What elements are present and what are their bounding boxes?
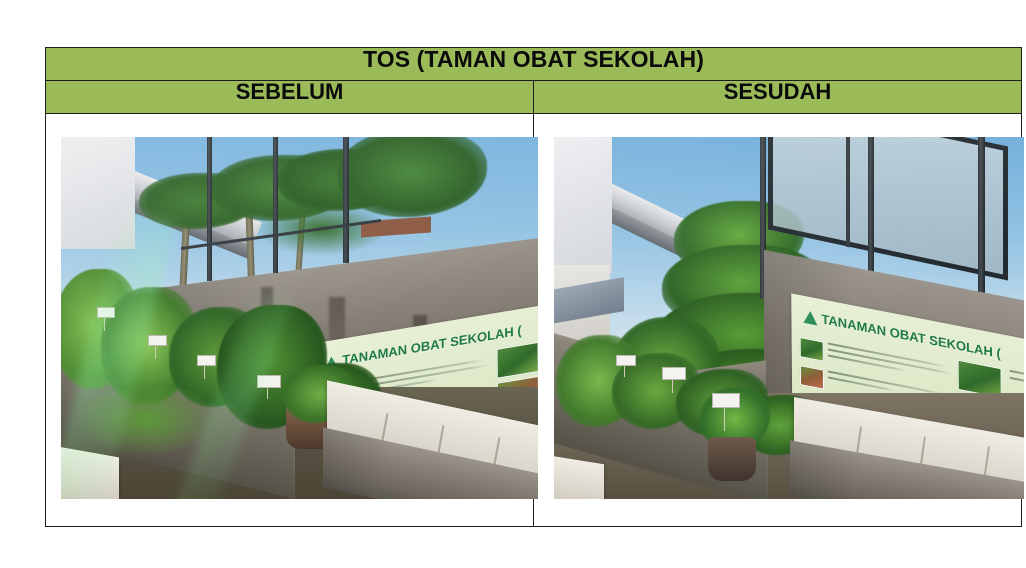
fence-post (868, 137, 874, 273)
fence-post (273, 137, 278, 273)
plant-label-stick (724, 405, 725, 431)
plant-label (97, 307, 115, 318)
photo-before: TANAMAN OBAT SEKOLAH ( (61, 137, 538, 499)
photo-after-canvas: TANAMAN OBAT SEKOLAH ( (554, 137, 1024, 499)
photo-cell-before: TANAMAN OBAT SEKOLAH ( (46, 114, 534, 527)
fence-post (978, 137, 985, 317)
roof-panel (61, 137, 135, 249)
plant-label (148, 335, 167, 346)
document-page: TOS (TAMAN OBAT SEKOLAH) SEBELUM SESUDAH (0, 0, 1026, 568)
banner-thumbnail (800, 365, 824, 390)
banner-thumbnail (497, 342, 538, 379)
table-row-subheaders: SEBELUM SESUDAH (46, 81, 1022, 114)
page-title: TOS (TAMAN OBAT SEKOLAH) (363, 46, 704, 72)
banner-manfaat-line (1010, 377, 1024, 387)
photo-before-canvas: TANAMAN OBAT SEKOLAH ( (61, 137, 538, 499)
banner-logo-icon (803, 310, 817, 326)
window-mullion (846, 137, 850, 247)
column-header-before-label: SEBELUM (236, 79, 344, 104)
banner-text-line (828, 370, 944, 394)
plant-label (712, 393, 740, 408)
plant-label (257, 375, 281, 388)
column-header-after-label: SESUDAH (724, 79, 832, 104)
tos-comparison-table: TOS (TAMAN OBAT SEKOLAH) SEBELUM SESUDAH (45, 47, 1022, 527)
table-row-photos: TANAMAN OBAT SEKOLAH ( (46, 114, 1022, 527)
plant-label (662, 367, 686, 380)
fence-post (343, 137, 349, 263)
banner-text-line (828, 348, 954, 374)
plant-label (197, 355, 216, 366)
photo-after: TANAMAN OBAT SEKOLAH ( (554, 137, 1024, 499)
table-title-cell: TOS (TAMAN OBAT SEKOLAH) (46, 48, 1022, 81)
column-header-after: SESUDAH (534, 81, 1022, 114)
banner-thumbnail (800, 337, 824, 362)
plant-pot (708, 437, 756, 481)
plant-label (616, 355, 636, 366)
table-row-title: TOS (TAMAN OBAT SEKOLAH) (46, 48, 1022, 81)
column-header-before: SEBELUM (46, 81, 534, 114)
photo-cell-after: TANAMAN OBAT SEKOLAH ( (534, 114, 1022, 527)
fence-post (207, 137, 212, 281)
roof-panel (554, 137, 612, 273)
